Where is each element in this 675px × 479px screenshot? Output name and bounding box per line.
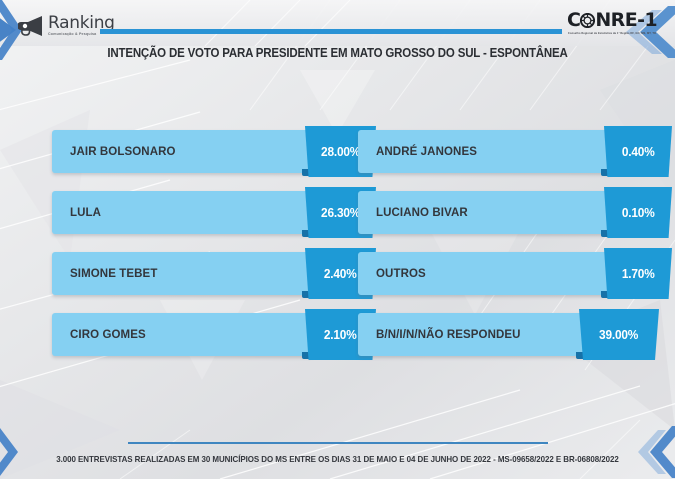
percentage-value: 26.30% <box>321 206 360 220</box>
megaphone-icon <box>18 15 44 37</box>
percentage-value: 0.40% <box>622 145 655 159</box>
result-row-andre-janones: ANDRÉ JANONES 0.40% <box>358 130 638 173</box>
candidate-label: JAIR BOLSONARO <box>70 130 176 173</box>
candidate-label: CIRO GOMES <box>70 313 146 356</box>
result-row-simone-tebet: SIMONE TEBET 2.40% <box>52 252 340 295</box>
footer-note: 3.000 ENTREVISTAS REALIZADAS EM 30 MUNIC… <box>10 455 665 464</box>
page-title: INTENÇÃO DE VOTO PARA PRESIDENTE EM MATO… <box>27 46 648 60</box>
percentage-value: 1.70% <box>622 267 655 281</box>
result-row-lula: LULA 26.30% <box>52 191 340 234</box>
header: Ranking Comunicação & Pesquisa C <box>0 0 675 72</box>
result-row-outros: OUTROS 1.70% <box>358 252 638 295</box>
percentage-value: 2.10% <box>324 328 357 342</box>
footer-divider <box>128 442 548 444</box>
percentage-value: 2.40% <box>324 267 357 281</box>
candidate-label: ANDRÉ JANONES <box>376 130 477 173</box>
result-row-ciro-gomes: CIRO GOMES 2.10% <box>52 313 340 356</box>
percentage-value: 0.10% <box>622 206 655 220</box>
conre-logo-title-part2: NRE-1 <box>595 11 657 30</box>
result-row-jair-bolsonaro: JAIR BOLSONARO 28.00% <box>52 130 340 173</box>
gear-o-icon <box>580 13 595 28</box>
percentage-block: 39.00% <box>579 309 659 360</box>
footer: 3.000 ENTREVISTAS REALIZADAS EM 30 MUNIC… <box>0 424 675 479</box>
percentage-value: 39.00% <box>599 328 638 342</box>
candidate-label: LUCIANO BIVAR <box>376 191 468 234</box>
conre-logo-title: C NRE-1 <box>567 11 657 30</box>
percentage-block: 0.40% <box>604 126 672 177</box>
candidate-label: SIMONE TEBET <box>70 252 157 295</box>
percentage-block: 1.70% <box>604 248 672 299</box>
conre-logo-title-part1: C <box>567 11 580 30</box>
percentage-value: 28.00% <box>321 145 360 159</box>
result-row-branco-nulo-indeciso: B/N/I/N/NÃO RESPONDEU 39.00% <box>358 313 638 356</box>
conre-logo: C NRE-1 Conselho Regional de Es <box>563 11 661 41</box>
percentage-block: 0.10% <box>604 187 672 238</box>
result-row-luciano-bivar: LUCIANO BIVAR 0.10% <box>358 191 638 234</box>
header-accent-rule <box>100 29 562 34</box>
candidate-label: LULA <box>70 191 101 234</box>
candidate-label: B/N/I/N/NÃO RESPONDEU <box>376 313 521 356</box>
conre-logo-subtitle: Conselho Regional de Estatistica da 1ª R… <box>568 32 656 36</box>
candidate-label: OUTROS <box>376 252 426 295</box>
ranking-logo: Ranking Comunicação & Pesquisa <box>18 10 108 42</box>
